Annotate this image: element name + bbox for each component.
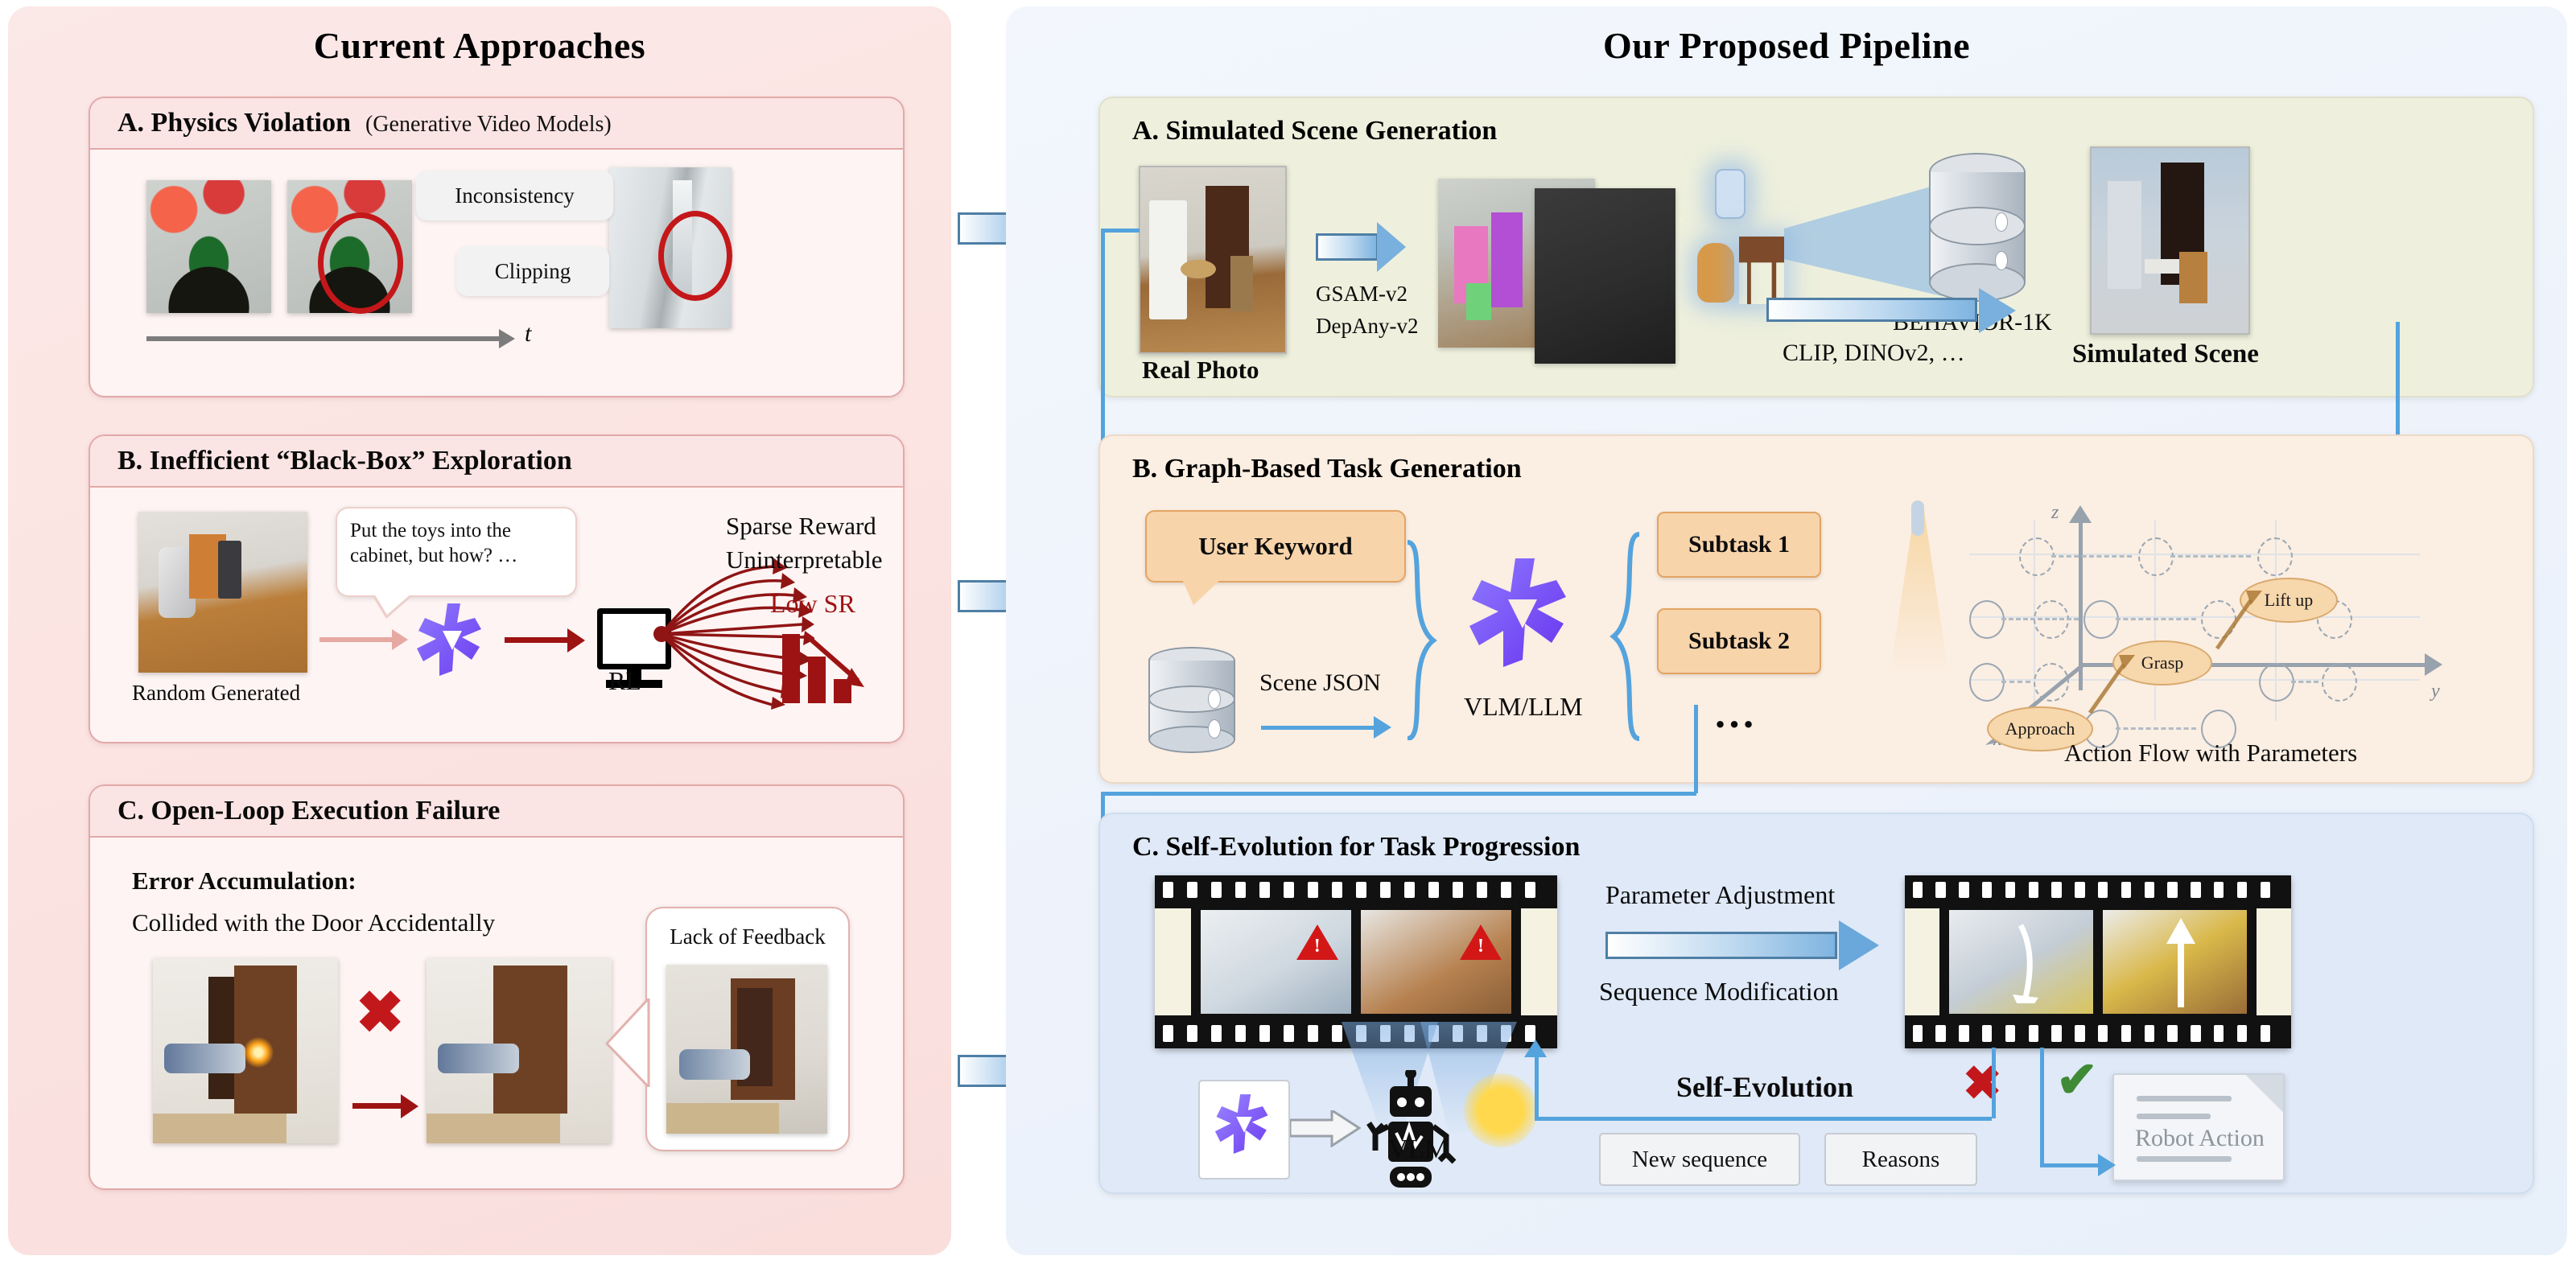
reasons-box[interactable]: Reasons bbox=[1824, 1133, 1977, 1186]
arrow-logo-to-robot bbox=[1290, 1110, 1361, 1147]
depth-map-image bbox=[1535, 188, 1675, 364]
vlm-llm-label: VLM/LLM bbox=[1464, 692, 1583, 722]
parameter-adjustment-label: Parameter Adjustment bbox=[1605, 880, 1835, 910]
card-open-loop-title: C. Open-Loop Execution Failure bbox=[117, 796, 500, 826]
real-photo-label: Real Photo bbox=[1142, 356, 1259, 385]
asset-bottle-icon bbox=[1715, 169, 1745, 219]
feedback-loop-v bbox=[1535, 1056, 1539, 1118]
arrow-photo-to-segmentation[interactable] bbox=[1316, 222, 1406, 272]
arrow-vlm-to-rl bbox=[505, 637, 569, 643]
beam-to-database bbox=[1784, 175, 1945, 304]
connector-a-to-b-h1 bbox=[1101, 229, 1140, 233]
subtask-2-box[interactable]: Subtask 2 bbox=[1657, 608, 1821, 674]
new-sequence-box[interactable]: New sequence bbox=[1599, 1133, 1800, 1186]
real-photo bbox=[1139, 166, 1287, 354]
feedback-loop-tip bbox=[1524, 1040, 1547, 1057]
lack-of-feedback-label: Lack of Feedback bbox=[670, 924, 825, 949]
subtask-ellipsis: … bbox=[1713, 690, 1755, 738]
idea-bulb-icon bbox=[1464, 1073, 1538, 1147]
accept-branch-v bbox=[2040, 1048, 2044, 1167]
time-axis-arrow bbox=[146, 336, 501, 341]
user-keyword-bubble: User Keyword bbox=[1145, 510, 1406, 583]
warning-icon-1: ! bbox=[1296, 924, 1338, 960]
light-emitter-icon bbox=[1911, 500, 1924, 536]
action-flow-label: Action Flow with Parameters bbox=[2064, 739, 2357, 768]
section-self-evolution: C. Self-Evolution for Task Progression bbox=[1098, 813, 2534, 1194]
scene-json-label: Scene JSON bbox=[1259, 669, 1381, 697]
vlm-logo-frame bbox=[1198, 1080, 1290, 1180]
left-brace-icon bbox=[1403, 539, 1438, 740]
card-physics-violation-title: A. Physics Violation bbox=[117, 108, 351, 138]
reject-branch-v bbox=[1992, 1048, 1996, 1118]
collision-description: Collided with the Door Accidentally bbox=[132, 908, 495, 937]
robot-action-document: Robot Action bbox=[2112, 1073, 2285, 1181]
clip-dinov2-label: CLIP, DINOv2, … bbox=[1783, 340, 1965, 367]
card-physics-violation-header: A. Physics Violation (Generative Video M… bbox=[90, 98, 903, 150]
uninterpretable-label: Uninterpretable bbox=[726, 546, 883, 574]
feedback-photo bbox=[666, 965, 827, 1134]
arrow-json-to-vlm bbox=[1261, 726, 1374, 730]
user-question-bubble: Put the toys into the cabinet, but how? … bbox=[336, 507, 577, 597]
error-accumulation-label: Error Accumulation: bbox=[132, 867, 357, 896]
random-scene-photo bbox=[138, 512, 307, 673]
warning-icon-2: ! bbox=[1460, 924, 1502, 960]
simulated-scene-label: Simulated Scene bbox=[2072, 340, 2259, 369]
inconsistency-label: Inconsistency bbox=[416, 171, 613, 220]
vlm-logo-icon-c bbox=[1211, 1089, 1277, 1167]
accept-branch-tip bbox=[2098, 1154, 2116, 1176]
section-graph-based-task-generation: B. Graph-Based Task Generation User Keyw… bbox=[1098, 434, 2534, 784]
vlm-label: VLM bbox=[1388, 1134, 1449, 1165]
feedback-loop-h bbox=[1535, 1117, 1992, 1121]
figure-root: Current Approaches A. Physics Violation … bbox=[0, 0, 2576, 1264]
gsam-label: GSAM-v2 bbox=[1316, 282, 1408, 307]
arrow-json-to-vlm-tip bbox=[1374, 716, 1391, 739]
section-c-title: C. Self-Evolution for Task Progression bbox=[1132, 832, 1580, 863]
arrow-scene-to-vlm bbox=[319, 637, 394, 642]
card-black-box-title: B. Inefficient “Black-Box” Exploration bbox=[117, 446, 572, 476]
robot-action-label: Robot Action bbox=[2135, 1125, 2265, 1152]
film-strip-success bbox=[1905, 875, 2291, 1048]
frame-photo-1 bbox=[146, 180, 271, 313]
clipping-highlight-circle bbox=[658, 211, 732, 301]
random-generated-label: Random Generated bbox=[132, 681, 300, 706]
inconsistency-highlight-circle bbox=[318, 212, 403, 314]
section-a-title: A. Simulated Scene Generation bbox=[1132, 116, 1497, 146]
section-simulated-scene-generation: A. Simulated Scene Generation Real Photo… bbox=[1098, 97, 2534, 397]
arrow-before-after bbox=[352, 1103, 402, 1109]
reject-x-icon: ✖ bbox=[1963, 1060, 2002, 1107]
low-sr-label: Low SR bbox=[770, 589, 855, 619]
behavior-1k-database-icon bbox=[1929, 153, 2026, 302]
right-panel-title: Our Proposed Pipeline bbox=[1006, 24, 2567, 67]
arrow-parameter-adjust[interactable] bbox=[1605, 920, 1879, 970]
right-brace-icon bbox=[1609, 531, 1644, 742]
arrow-clip-dinov2[interactable] bbox=[1766, 288, 2016, 333]
connector-b-to-c-v1 bbox=[1694, 705, 1698, 793]
collision-photo-before bbox=[153, 958, 338, 1143]
flow-transition-arrows bbox=[1969, 568, 2468, 753]
card-black-box-header: B. Inefficient “Black-Box” Exploration bbox=[90, 436, 903, 488]
scene-json-database-icon bbox=[1148, 647, 1235, 753]
action-flow-graph: z y x Approach Grasp bbox=[1873, 488, 2484, 753]
lack-of-feedback-callout: Lack of Feedback bbox=[645, 907, 850, 1151]
subtask-1-box[interactable]: Subtask 1 bbox=[1657, 512, 1821, 578]
self-evolution-label: Self-Evolution bbox=[1676, 1070, 1853, 1104]
vlm-logo-icon bbox=[412, 600, 493, 689]
vlm-llm-logo-icon bbox=[1462, 554, 1583, 686]
card-open-loop-header: C. Open-Loop Execution Failure bbox=[90, 786, 903, 838]
sequence-modification-label: Sequence Modification bbox=[1599, 977, 1839, 1007]
card-open-loop-failure: C. Open-Loop Execution Failure Error Acc… bbox=[89, 784, 905, 1190]
time-axis-label: t bbox=[525, 320, 531, 348]
section-b-title: B. Graph-Based Task Generation bbox=[1132, 454, 1522, 484]
clipping-label: Clipping bbox=[456, 246, 609, 296]
card-black-box-exploration: B. Inefficient “Black-Box” Exploration R… bbox=[89, 434, 905, 743]
failure-x-icon: ✖ bbox=[356, 984, 404, 1042]
depany-label: DepAny-v2 bbox=[1316, 314, 1418, 339]
card-physics-violation: A. Physics Violation (Generative Video M… bbox=[89, 97, 905, 397]
callout-pointer bbox=[605, 998, 650, 1087]
connector-b-to-c-h bbox=[1101, 792, 1696, 796]
axis-z-label: z bbox=[2051, 502, 2059, 524]
collision-photo-after bbox=[427, 958, 612, 1143]
accept-check-icon: ✔ bbox=[2056, 1056, 2098, 1105]
low-sr-chart-icon bbox=[782, 632, 871, 703]
card-physics-violation-subtitle: (Generative Video Models) bbox=[365, 112, 612, 137]
sparse-reward-label: Sparse Reward bbox=[726, 512, 876, 541]
accept-branch-h bbox=[2040, 1163, 2098, 1167]
rl-label: RL bbox=[608, 666, 641, 696]
asset-teddy-icon bbox=[1697, 243, 1734, 303]
simulated-scene-image bbox=[2090, 146, 2250, 335]
left-panel-title: Current Approaches bbox=[8, 24, 951, 67]
